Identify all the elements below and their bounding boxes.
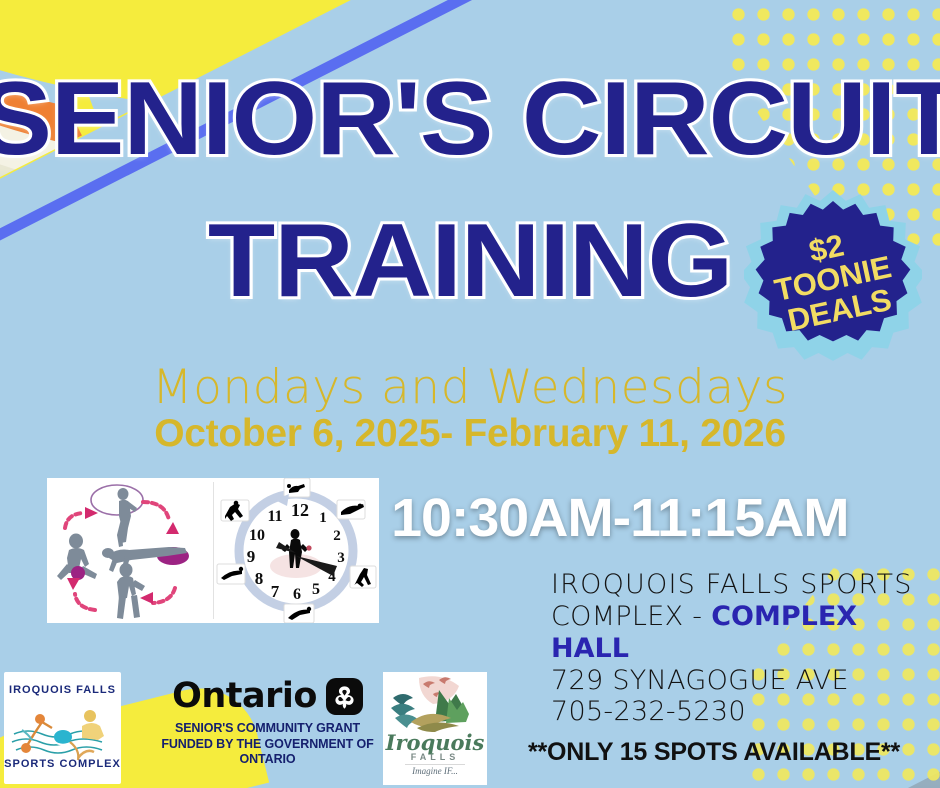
- schedule-days: Mondays and Wednesdays: [0, 360, 940, 415]
- circuit-diagram-image: [47, 478, 213, 623]
- venue-address-block: IROQUOIS FALLS SPORTS COMPLEX - COMPLEX …: [551, 569, 940, 728]
- town-logo-graphic: [383, 672, 487, 734]
- toonie-deals-badge: $2 TOONIE DEALS: [742, 188, 924, 370]
- logo-town-of-iroquois-falls: Iroquois FALLS Imagine IF...: [383, 672, 487, 785]
- venue-name-line1: IROQUOIS FALLS SPORTS: [551, 569, 940, 601]
- svg-text:9: 9: [247, 547, 256, 566]
- logo-iroquois-falls-sports-complex: IROQUOIS FALLS SPORTS COMPLEX: [4, 672, 121, 784]
- town-falls-label: FALLS: [383, 752, 487, 762]
- sports-complex-top-text: IROQUOIS FALLS: [4, 684, 121, 696]
- ontario-trillium-icon: [326, 678, 363, 715]
- exercise-clock-image: 12 1 2 3 4 5 6 7 8 9 10 11: [213, 478, 379, 623]
- svg-text:3: 3: [337, 550, 345, 566]
- svg-text:2: 2: [333, 528, 341, 544]
- exercise-image-panel: 12 1 2 3 4 5 6 7 8 9 10 11: [47, 478, 379, 623]
- logo-ontario: Ontario SENIOR'S COMMUNITY GRANT FUNDED …: [160, 676, 375, 772]
- ontario-grant-text: SENIOR'S COMMUNITY GRANT FUNDED BY THE G…: [160, 721, 375, 768]
- svg-text:8: 8: [255, 569, 264, 588]
- trillium-svg: [331, 683, 358, 710]
- exercise-clock-svg: 12 1 2 3 4 5 6 7 8 9 10 11: [213, 478, 379, 623]
- venue-street: 729 SYNAGOGUE AVE: [551, 665, 940, 697]
- ontario-wordmark-row: Ontario: [160, 676, 375, 716]
- circuit-diagram-svg: [47, 478, 213, 623]
- ontario-grant-line1: SENIOR'S COMMUNITY GRANT: [160, 721, 375, 737]
- town-tagline: Imagine IF...: [383, 766, 487, 776]
- poster-canvas: SENIOR'S CIRCUIT TRAINING $2 TOONIE DEAL…: [0, 0, 940, 788]
- page-title-line1: SENIOR'S CIRCUIT: [0, 72, 940, 168]
- venue-name-line2: COMPLEX - COMPLEX HALL: [551, 601, 940, 665]
- svg-text:5: 5: [312, 581, 320, 598]
- svg-text:10: 10: [249, 527, 265, 544]
- svg-text:12: 12: [291, 500, 309, 520]
- venue-complex-label: COMPLEX -: [551, 601, 711, 632]
- svg-text:1: 1: [319, 510, 327, 526]
- badge-text-group: $2 TOONIE DEALS: [725, 171, 940, 387]
- schedule-dates: October 6, 2025- February 11, 2026: [0, 412, 940, 456]
- ontario-wordmark: Ontario: [172, 676, 317, 716]
- ontario-grant-line2: FUNDED BY THE GOVERNMENT OF ONTARIO: [160, 737, 375, 768]
- venue-phone: 705-232-5230: [551, 696, 940, 728]
- session-time: 10:30AM-11:15AM: [391, 487, 865, 549]
- svg-text:6: 6: [293, 586, 301, 603]
- spots-available-note: **ONLY 15 SPOTS AVAILABLE**: [528, 738, 940, 767]
- town-divider: [405, 764, 465, 765]
- svg-text:7: 7: [271, 582, 280, 601]
- sports-complex-bottom-text: SPORTS COMPLEX: [4, 758, 121, 770]
- svg-text:11: 11: [267, 508, 282, 525]
